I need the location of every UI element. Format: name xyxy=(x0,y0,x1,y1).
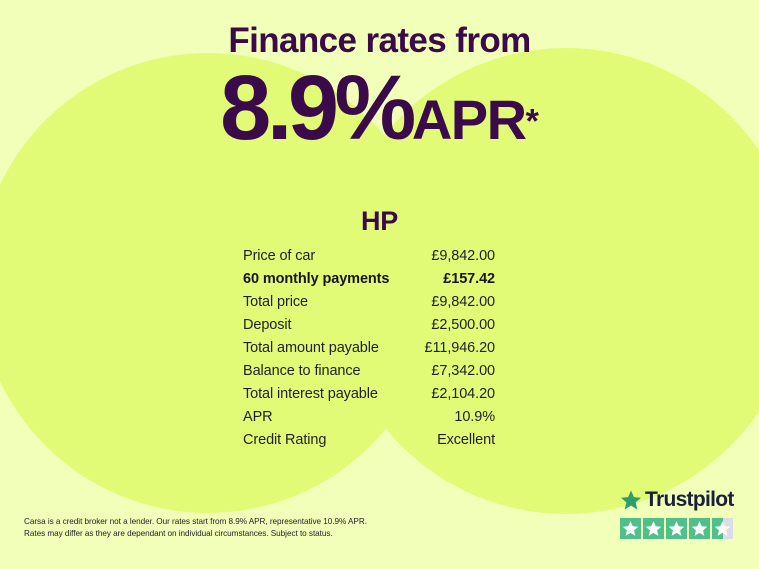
rating-star-3 xyxy=(666,518,687,539)
disclaimer-line-2: Rates may differ as they are dependant o… xyxy=(24,528,454,540)
row-value: £2,500.00 xyxy=(431,317,495,333)
trustpilot-name: Trustpilot xyxy=(645,489,734,511)
table-row: 60 monthly payments £157.42 xyxy=(243,271,495,294)
row-label: Total amount payable xyxy=(243,340,379,356)
row-label: Price of car xyxy=(243,248,315,264)
table-row: Total price £9,842.00 xyxy=(243,294,495,317)
table-row: Credit Rating Excellent xyxy=(243,432,495,455)
row-label: Balance to finance xyxy=(243,363,361,379)
row-label: 60 monthly payments xyxy=(243,271,389,287)
rating-star-4 xyxy=(689,518,710,539)
row-value: £7,342.00 xyxy=(431,363,495,379)
finance-table: Price of car £9,842.00 60 monthly paymen… xyxy=(243,248,495,455)
row-value: £157.42 xyxy=(443,271,495,287)
table-row: Price of car £9,842.00 xyxy=(243,248,495,271)
disclaimer-text: Carsa is a credit broker not a lender. O… xyxy=(24,516,454,541)
row-label: APR xyxy=(243,409,273,425)
rating-star-5-half xyxy=(712,518,733,539)
promo-banner: Finance rates from 8.9%APR* HP Price of … xyxy=(0,0,759,569)
rate-asterisk: * xyxy=(526,103,539,141)
rating-star-1 xyxy=(620,518,641,539)
table-row: Balance to finance £7,342.00 xyxy=(243,363,495,386)
row-value: 10.9% xyxy=(454,409,495,425)
row-value: £9,842.00 xyxy=(431,248,495,264)
table-row: APR 10.9% xyxy=(243,409,495,432)
row-value: £11,946.20 xyxy=(425,340,496,356)
headline-rate: 8.9%APR* xyxy=(0,62,759,154)
product-title: HP xyxy=(0,206,759,237)
row-value: £9,842.00 xyxy=(431,294,495,310)
table-row: Deposit £2,500.00 xyxy=(243,317,495,340)
row-label: Deposit xyxy=(243,317,291,333)
rate-unit: APR xyxy=(412,88,526,151)
table-row: Total interest payable £2,104.20 xyxy=(243,386,495,409)
trustpilot-widget[interactable]: Trustpilot xyxy=(620,488,740,539)
row-value: Excellent xyxy=(437,432,495,448)
rate-value: 8.9% xyxy=(220,57,412,159)
disclaimer-line-1: Carsa is a credit broker not a lender. O… xyxy=(24,516,454,528)
table-row: Total amount payable £11,946.20 xyxy=(243,340,495,363)
row-label: Total interest payable xyxy=(243,386,378,402)
trustpilot-rating xyxy=(620,518,740,539)
row-value: £2,104.20 xyxy=(431,386,495,402)
row-label: Credit Rating xyxy=(243,432,326,448)
row-label: Total price xyxy=(243,294,308,310)
trustpilot-wordmark: Trustpilot xyxy=(620,488,740,512)
rating-star-2 xyxy=(643,518,664,539)
trustpilot-star-icon xyxy=(620,489,642,511)
